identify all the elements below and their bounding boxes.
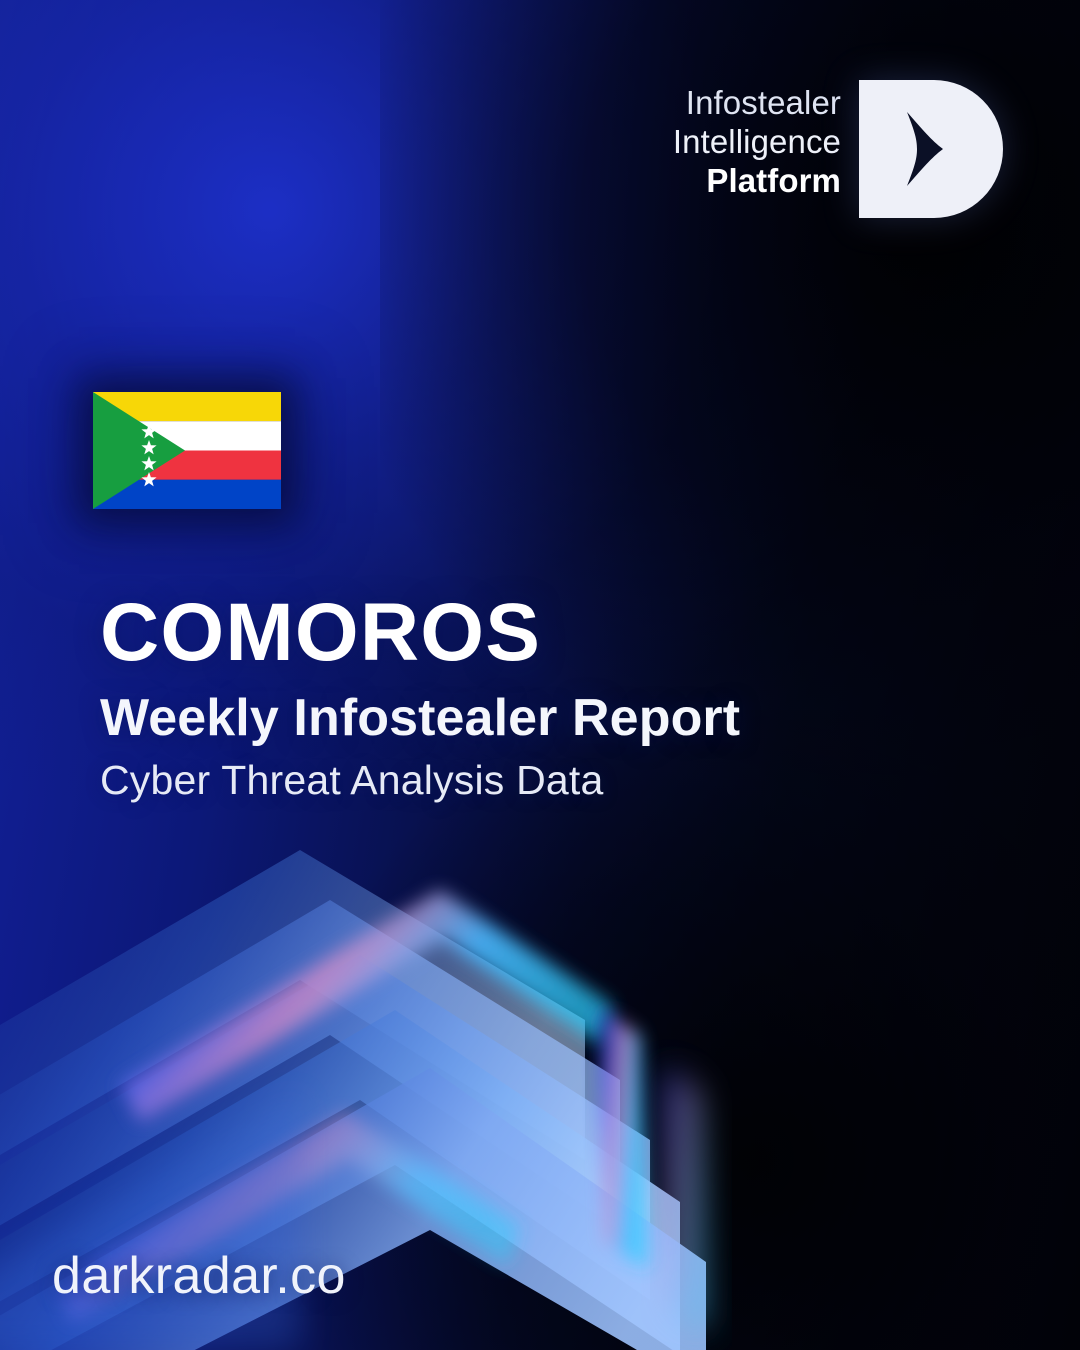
darkradar-d-mark-icon (855, 78, 1005, 220)
country-flag (93, 392, 281, 509)
brand-logo[interactable]: Infostealer Intelligence Platform (673, 78, 1005, 220)
report-poster: Infostealer Intelligence Platform (0, 0, 1080, 1350)
logo-line-infostealer: Infostealer (686, 86, 841, 119)
brand-logo-text: Infostealer Intelligence Platform (673, 78, 841, 197)
logo-line-intelligence: Intelligence (673, 125, 841, 158)
headline-block: COMOROS Weekly Infostealer Report Cyber … (100, 592, 1000, 803)
report-tagline: Cyber Threat Analysis Data (100, 758, 1000, 803)
report-title: Weekly Infostealer Report (100, 690, 1000, 746)
logo-line-platform: Platform (706, 164, 841, 197)
site-url[interactable]: darkradar.co (52, 1246, 346, 1306)
country-title: COMOROS (100, 592, 1000, 674)
